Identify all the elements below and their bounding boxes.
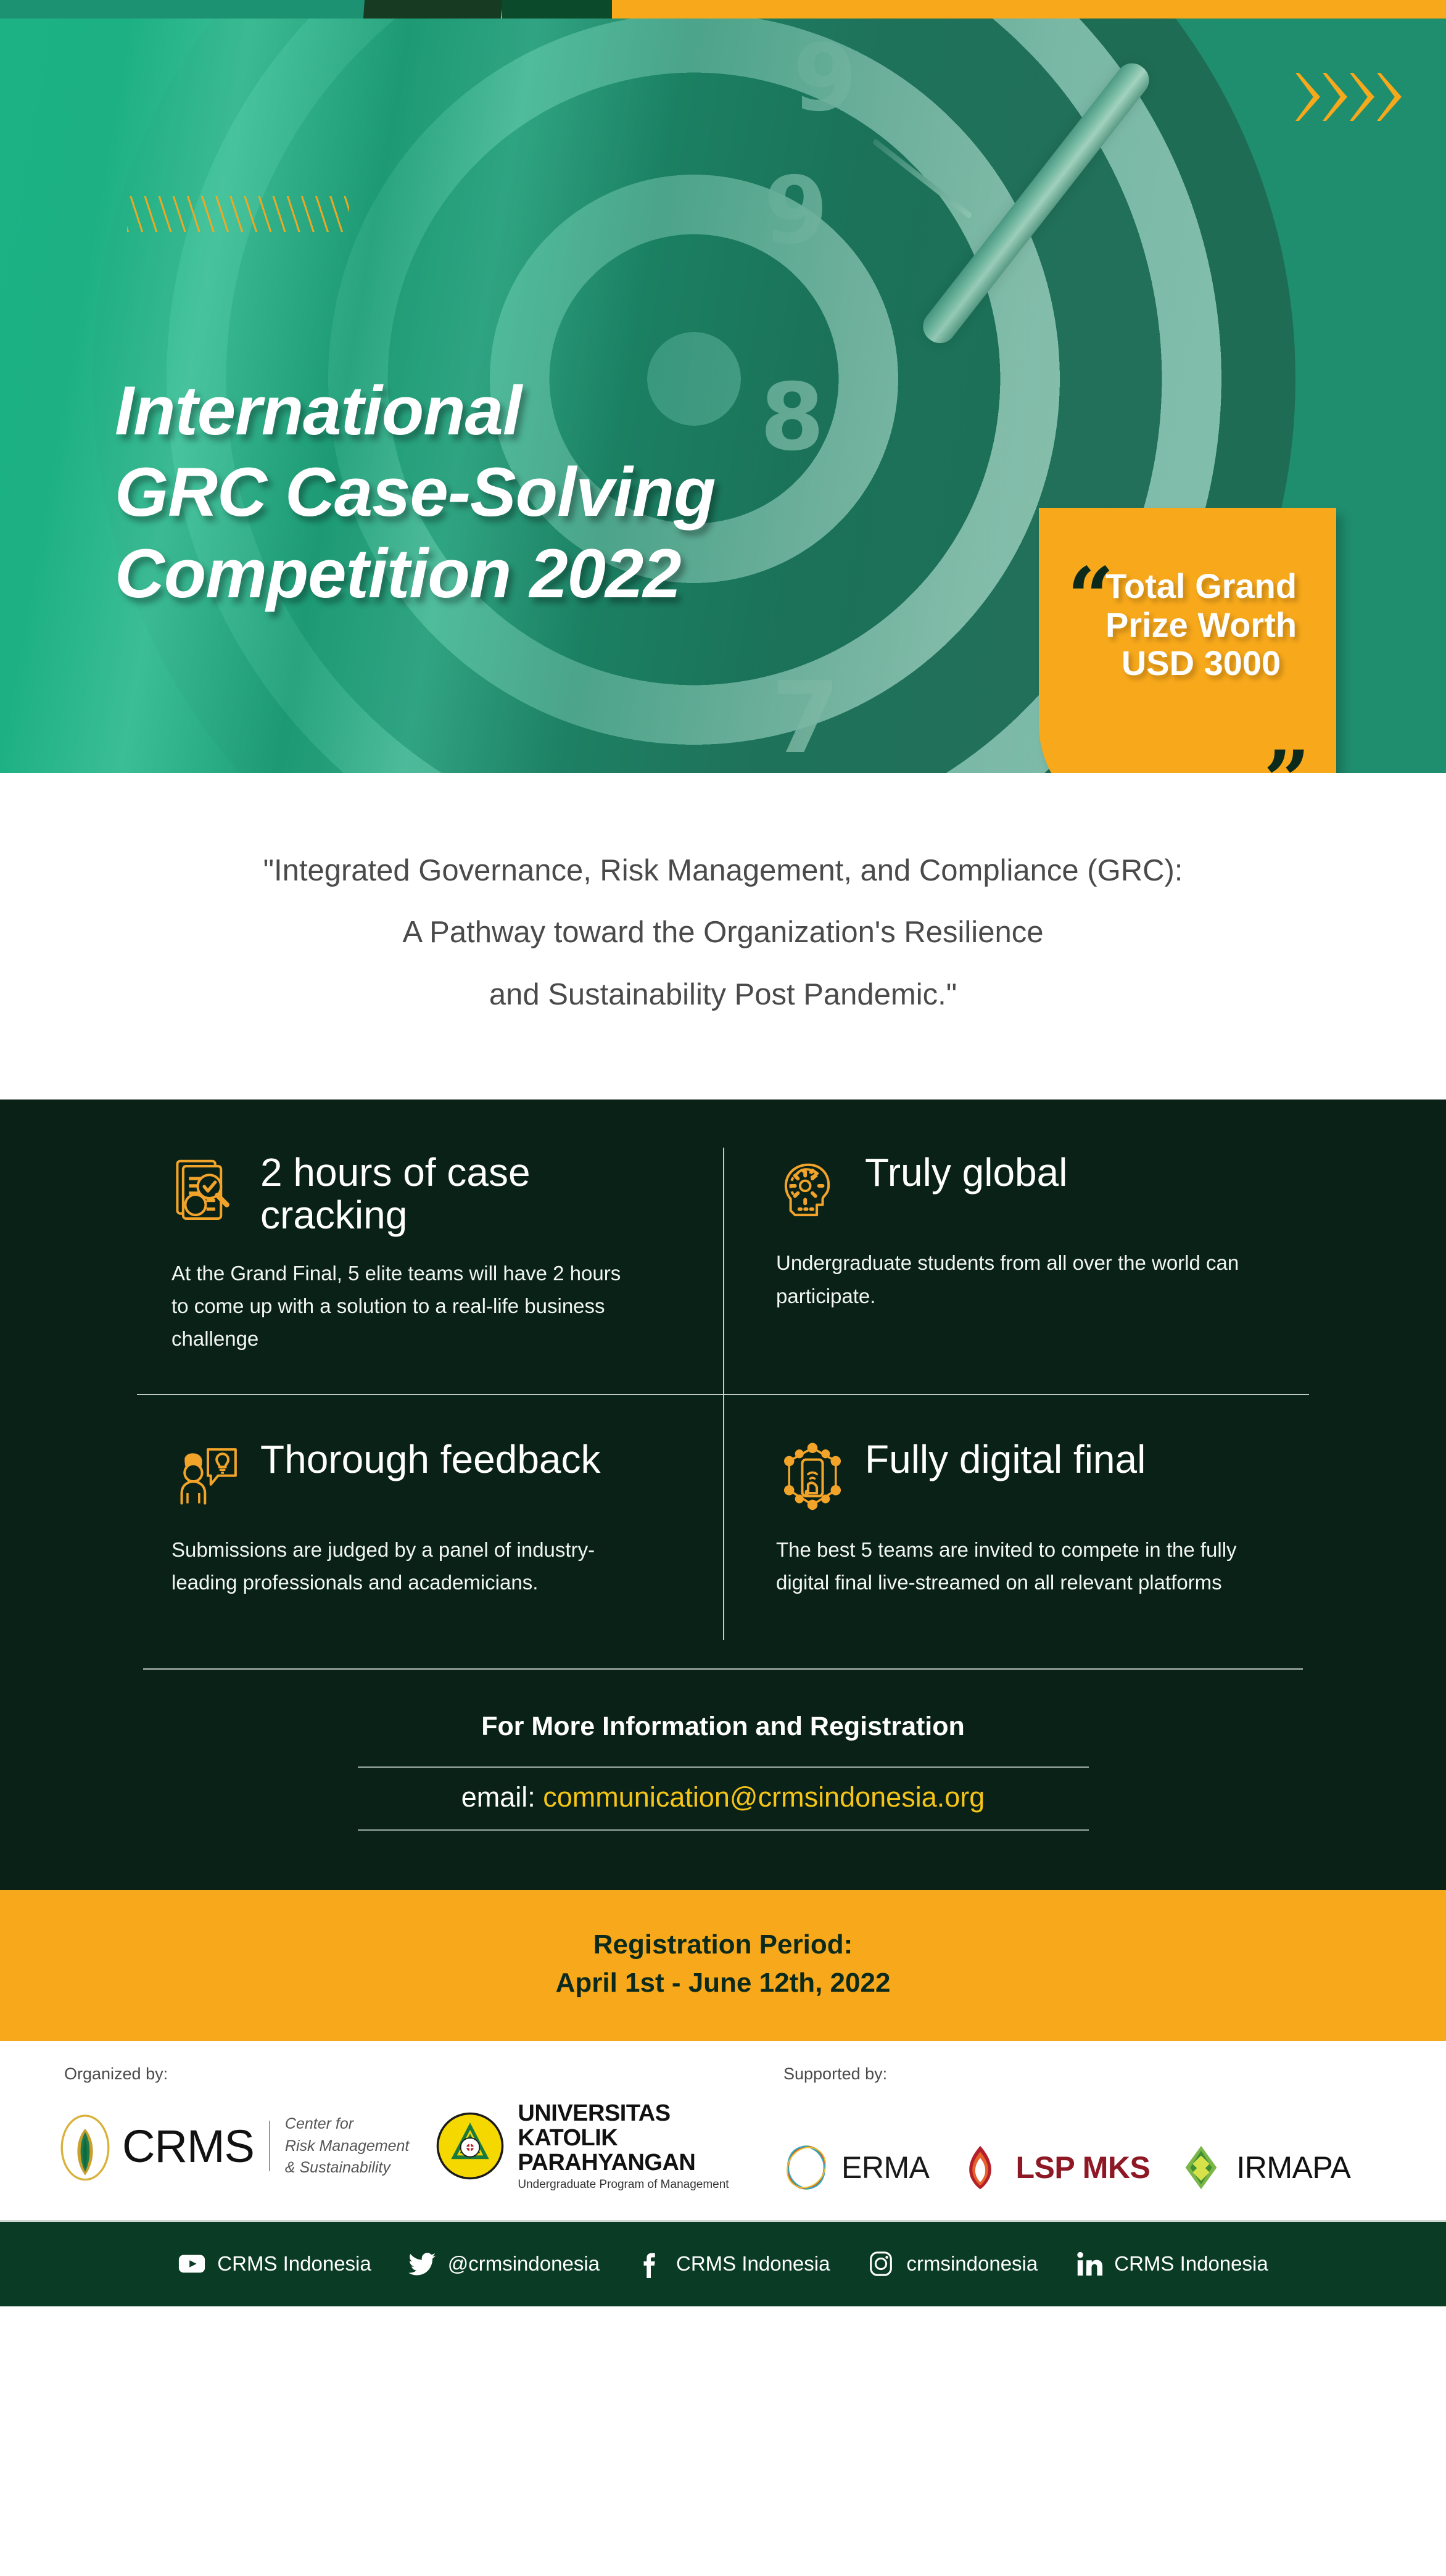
unpar-crest-icon [434, 2110, 506, 2182]
quote-close-icon: ” [1263, 756, 1310, 773]
strip-segment-darkgreen [363, 0, 502, 19]
organizer-logo-row: CRMS Center for Risk Management & Sustai… [59, 2101, 729, 2192]
social-label: CRMS Indonesia [1114, 2252, 1268, 2276]
feature-title: 2 hours of case cracking [260, 1148, 684, 1236]
feature-description: The best 5 teams are invited to compete … [776, 1533, 1245, 1599]
email-prefix-label: email: [461, 1781, 543, 1813]
contact-divider [143, 1668, 1303, 1670]
feature-title: Thorough feedback [260, 1435, 601, 1481]
strip-segment-teal [0, 0, 365, 19]
crms-tagline-line: & Sustainability [285, 2159, 390, 2176]
contact-heading: For More Information and Registration [0, 1712, 1446, 1742]
unpar-name-line: PARAHYANGAN [518, 2150, 729, 2175]
strip-segment-green [502, 0, 611, 19]
organized-by-label: Organized by: [64, 2065, 168, 2084]
feature-title: Fully digital final [865, 1435, 1146, 1481]
contact-section: For More Information and Registration em… [0, 1640, 1446, 1890]
theme-statement: "Integrated Governance, Risk Management,… [0, 773, 1446, 1100]
social-label: @crmsindonesia [448, 2252, 600, 2276]
crms-tagline-line: Center for [285, 2115, 353, 2132]
top-color-strip [0, 0, 1446, 19]
crms-tagline-line: Risk Management [285, 2137, 409, 2155]
email-box: email: communication@crmsindonesia.org [358, 1766, 1089, 1831]
social-label: crmsindonesia [906, 2252, 1038, 2276]
theme-line: and Sustainability Post Pandemic." [0, 964, 1446, 1025]
page-title: International GRC Case-Solving Competiti… [115, 370, 716, 615]
registration-period: April 1st - June 12th, 2022 [0, 1964, 1446, 2002]
document-magnifier-check-icon [171, 1154, 244, 1227]
chevron-decoration [1295, 73, 1402, 121]
erma-mark-icon [782, 2143, 830, 2192]
erma-logo: ERMA [782, 2143, 929, 2192]
logos-section: Organized by: Supported by: CRMS Center … [0, 2041, 1446, 2220]
registration-band: Registration Period: April 1st - June 12… [0, 1890, 1446, 2041]
irmapa-wordmark: IRMAPA [1236, 2150, 1350, 2185]
lsp-mks-wordmark: LSP MKS [1015, 2150, 1150, 2185]
twitter-icon [408, 2250, 437, 2278]
head-gear-icon [776, 1154, 849, 1227]
crms-wordmark: CRMS [122, 2120, 254, 2172]
feature-description: At the Grand Final, 5 elite teams will h… [171, 1257, 640, 1356]
features-section: 2 hours of case cracking At the Grand Fi… [0, 1100, 1446, 1639]
hero-banner: 9 9 8 7 International GRC Case-Solving C… [0, 19, 1446, 773]
email-address-link[interactable]: communication@crmsindonesia.org [543, 1781, 985, 1813]
social-item-twitter[interactable]: @crmsindonesia [408, 2250, 600, 2278]
supported-by-label: Supported by: [783, 2065, 887, 2084]
feature-card-thorough-feedback: Thorough feedback Submissions are judged… [137, 1396, 723, 1640]
unpar-name-line: UNIVERSITAS [518, 2101, 729, 2126]
strip-segment-orange [612, 0, 1446, 19]
person-lightbulb-feedback-icon [171, 1441, 244, 1514]
feature-description: Undergraduate students from all over the… [776, 1246, 1245, 1312]
title-line-2: GRC Case-Solving [115, 452, 716, 533]
social-item-linkedin[interactable]: CRMS Indonesia [1075, 2250, 1268, 2278]
theme-line: "Integrated Governance, Risk Management,… [0, 840, 1446, 901]
crms-tagline: Center for Risk Management & Sustainabil… [285, 2113, 409, 2179]
features-grid: 2 hours of case cracking At the Grand Fi… [137, 1148, 1309, 1639]
title-line-3: Competition 2022 [115, 533, 716, 615]
irmapa-logo: IRMAPA [1177, 2143, 1350, 2192]
crms-mark-icon [59, 2111, 111, 2180]
feature-card-fully-digital-final: Fully digital final The best 5 teams are… [723, 1396, 1309, 1640]
hatch-decoration [127, 196, 349, 232]
crms-logo: CRMS Center for Risk Management & Sustai… [59, 2111, 409, 2180]
social-label: CRMS Indonesia [676, 2252, 830, 2276]
lsp-mks-mark-icon [956, 2143, 1004, 2192]
feature-card-case-cracking: 2 hours of case cracking At the Grand Fi… [137, 1148, 723, 1396]
social-footer: CRMS Indonesia @crmsindonesia CRMS Indon… [0, 2220, 1446, 2306]
network-smartphone-icon [776, 1441, 849, 1514]
unpar-name-line: KATOLIK [518, 2126, 729, 2150]
prize-badge: “ Total Grand Prize Worth USD 3000 ” [1039, 508, 1336, 773]
social-item-youtube[interactable]: CRMS Indonesia [178, 2250, 371, 2278]
unpar-logo: UNIVERSITAS KATOLIK PARAHYANGAN Undergra… [434, 2101, 729, 2192]
linkedin-icon [1075, 2250, 1103, 2278]
theme-line: A Pathway toward the Organization's Resi… [0, 901, 1446, 963]
feature-title: Truly global [865, 1148, 1067, 1194]
chevron-right-icon [1350, 73, 1374, 121]
social-label: CRMS Indonesia [217, 2252, 371, 2276]
registration-label: Registration Period: [0, 1926, 1446, 1964]
feature-description: Submissions are judged by a panel of ind… [171, 1533, 640, 1599]
lsp-mks-logo: LSP MKS [956, 2143, 1150, 2192]
social-item-instagram[interactable]: crmsindonesia [867, 2250, 1038, 2278]
chevron-right-icon [1323, 73, 1347, 121]
instagram-icon [867, 2250, 895, 2278]
feature-card-truly-global: Truly global Undergraduate students from… [723, 1148, 1309, 1396]
email-line: email: communication@crmsindonesia.org [358, 1781, 1089, 1813]
prize-badge-text: Total Grand Prize Worth USD 3000 [1039, 567, 1323, 683]
youtube-icon [178, 2250, 206, 2278]
irmapa-mark-icon [1177, 2143, 1225, 2192]
poster-root: 9 9 8 7 International GRC Case-Solving C… [0, 0, 1446, 2306]
facebook-icon [637, 2250, 665, 2278]
erma-wordmark: ERMA [841, 2150, 929, 2185]
title-line-1: International [115, 370, 716, 452]
social-item-facebook[interactable]: CRMS Indonesia [637, 2250, 830, 2278]
crms-divider [269, 2121, 270, 2171]
unpar-program-label: Undergraduate Program of Management [518, 2178, 729, 2192]
supporter-logo-row: ERMA LSP MKS IRMAPA [782, 2143, 1350, 2192]
chevron-right-icon [1377, 73, 1402, 121]
chevron-right-icon [1295, 73, 1320, 121]
